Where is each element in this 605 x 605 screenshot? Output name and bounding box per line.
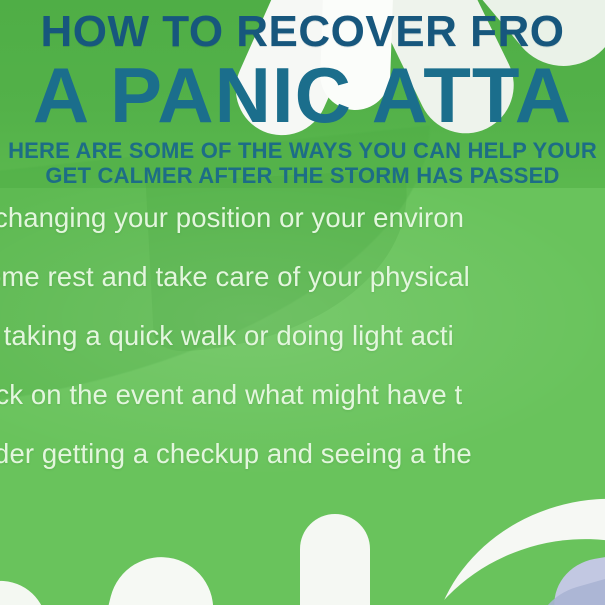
body-copy-text: ome rest and take care of your physical (0, 263, 470, 291)
body-copy-line: changing your position or your environ (0, 188, 605, 247)
body-copy-list: changing your position or your environ o… (0, 188, 605, 483)
body-copy-text: changing your position or your environ (0, 204, 464, 232)
petal-shape-bottom-center (300, 514, 370, 605)
body-copy-line: sider getting a checkup and seeing a the (0, 424, 605, 483)
body-copy-text: y taking a quick walk or doing light act… (0, 322, 454, 350)
body-copy-text: sider getting a checkup and seeing a the (0, 440, 472, 468)
page-title-line-2: A PANIC ATTA (0, 58, 605, 132)
body-copy-text: ack on the event and what might have t (0, 381, 462, 409)
headline-block: HOW TO RECOVER FRO A PANIC ATTA HERE ARE… (0, 0, 605, 188)
page-title-line-1: HOW TO RECOVER FRO (0, 0, 605, 54)
subheadline-line-2: GET CALMER AFTER THE STORM HAS PASSED (0, 163, 605, 188)
infographic-poster: HOW TO RECOVER FRO A PANIC ATTA HERE ARE… (0, 0, 605, 605)
subheadline-line-1: HERE ARE SOME OF THE WAYS YOU CAN HELP Y… (8, 138, 597, 163)
body-copy-line: ack on the event and what might have t (0, 365, 605, 424)
subheadline: HERE ARE SOME OF THE WAYS YOU CAN HELP Y… (0, 138, 605, 188)
body-copy-line: ome rest and take care of your physical (0, 247, 605, 306)
body-copy-line: y taking a quick walk or doing light act… (0, 306, 605, 365)
